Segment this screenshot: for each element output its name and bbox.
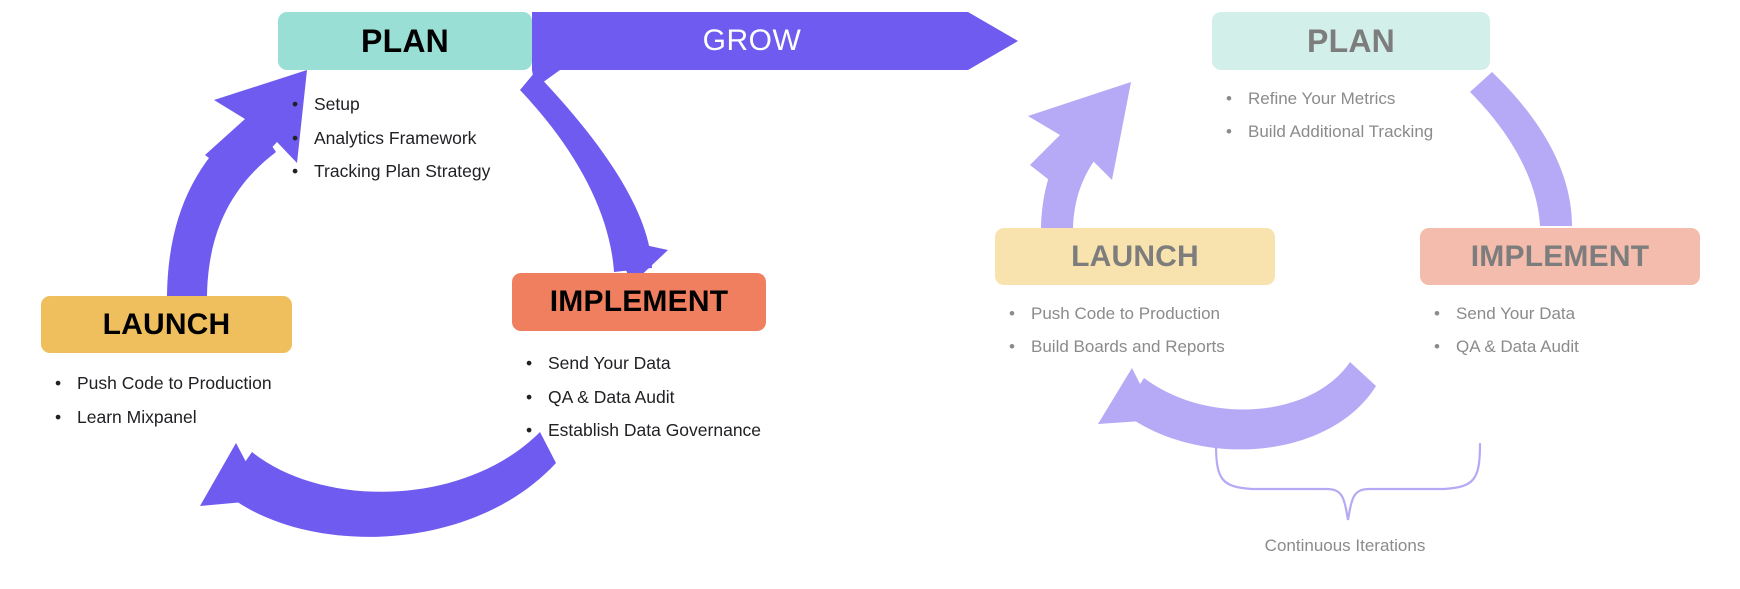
phase-implement-faded-list: Send Your Data QA & Data Audit (1420, 297, 1700, 363)
grow-label: GROW (532, 12, 972, 70)
list-item: Refine Your Metrics (1212, 82, 1490, 115)
phase-plan-faded-list: Refine Your Metrics Build Additional Tra… (1212, 82, 1490, 148)
phase-implement-active-list: Send Your Data QA & Data Audit Establish… (512, 347, 766, 448)
list-item: Analytics Framework (278, 122, 532, 156)
phase-implement-active-title: IMPLEMENT (512, 273, 766, 331)
phase-implement-faded-title: IMPLEMENT (1420, 228, 1700, 285)
phase-implement-faded[interactable]: IMPLEMENT Send Your Data QA & Data Audit (1420, 228, 1700, 363)
lifecycle-diagram: GROW PLAN Setup Analytics Framework Trac… (0, 0, 1740, 589)
continuous-iterations-label: Continuous Iterations (1135, 536, 1555, 556)
list-item: Learn Mixpanel (41, 401, 292, 435)
list-item: Tracking Plan Strategy (278, 155, 532, 189)
arrow-plan-to-implement (520, 72, 652, 272)
list-item: Send Your Data (1420, 297, 1700, 330)
arrow-implement-to-launch (224, 432, 556, 537)
grow-banner: GROW (532, 12, 1018, 70)
phase-plan-active[interactable]: PLAN Setup Analytics Framework Tracking … (278, 12, 532, 189)
phase-implement-active[interactable]: IMPLEMENT Send Your Data QA & Data Audit… (512, 273, 766, 448)
phase-launch-faded-title: LAUNCH (995, 228, 1275, 285)
list-item: QA & Data Audit (512, 381, 766, 415)
phase-plan-faded[interactable]: PLAN Refine Your Metrics Build Additiona… (1212, 12, 1490, 148)
list-item: Establish Data Governance (512, 414, 766, 448)
phase-plan-faded-title: PLAN (1212, 12, 1490, 70)
phase-launch-faded[interactable]: LAUNCH Push Code to Production Build Boa… (995, 228, 1275, 363)
phase-launch-faded-list: Push Code to Production Build Boards and… (995, 297, 1275, 363)
phase-launch-active[interactable]: LAUNCH Push Code to Production Learn Mix… (41, 296, 292, 434)
list-item: Send Your Data (512, 347, 766, 381)
list-item: QA & Data Audit (1420, 330, 1700, 363)
phase-plan-active-title: PLAN (278, 12, 532, 70)
list-item: Build Additional Tracking (1212, 115, 1490, 148)
list-item: Push Code to Production (995, 297, 1275, 330)
list-item: Build Boards and Reports (995, 330, 1275, 363)
arrow-faded-implement-to-launch (1122, 362, 1376, 449)
list-item: Push Code to Production (41, 367, 292, 401)
phase-launch-active-title: LAUNCH (41, 296, 292, 353)
phase-launch-active-list: Push Code to Production Learn Mixpanel (41, 367, 292, 434)
curly-brace (1216, 444, 1480, 520)
phase-plan-active-list: Setup Analytics Framework Tracking Plan … (278, 88, 532, 189)
list-item: Setup (278, 88, 532, 122)
